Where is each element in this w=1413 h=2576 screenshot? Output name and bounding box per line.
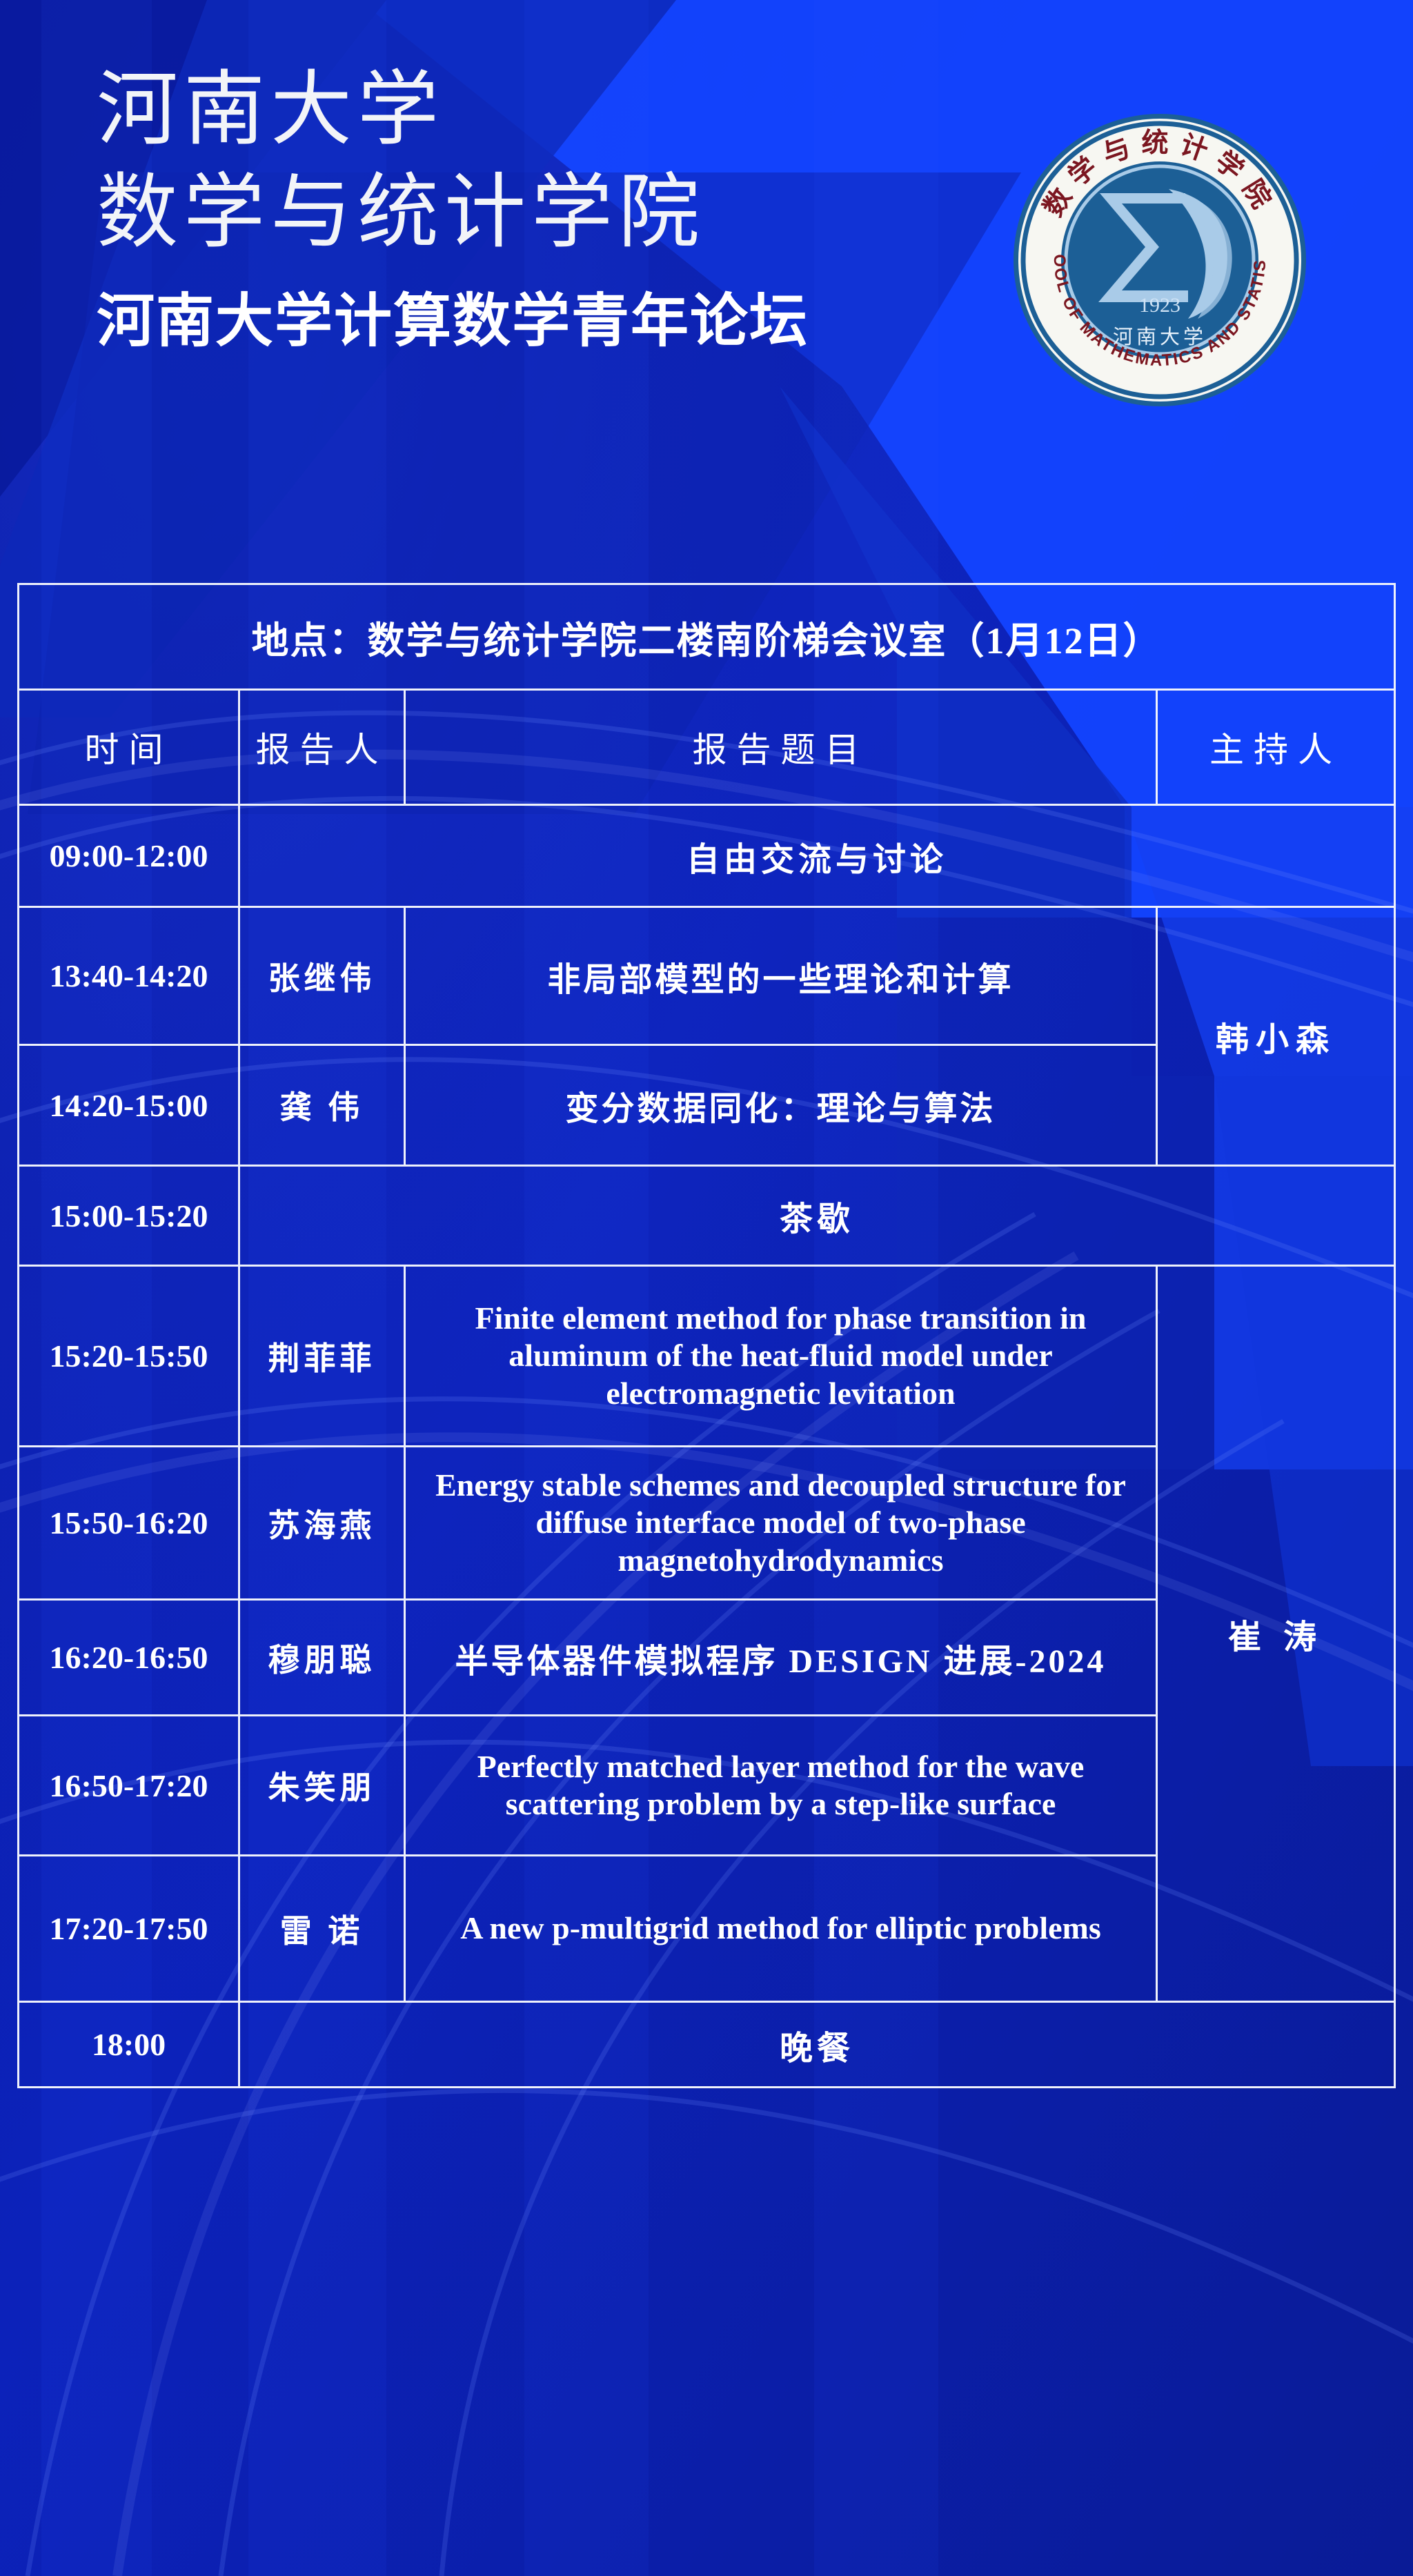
row-chair: 崔 涛 — [1157, 1266, 1395, 2002]
row-time: 15:20-15:50 — [19, 1266, 239, 1447]
row-topic-full: 茶歇 — [239, 1166, 1395, 1266]
row-topic: 半导体器件模拟程序 DESIGN 进展-2024 — [405, 1600, 1157, 1716]
row-speaker: 张继伟 — [239, 907, 405, 1045]
event-title: 河南大学计算数学青年论坛 — [97, 275, 994, 358]
header-row: 时间 报告人 报告题目 主持人 — [19, 690, 1395, 805]
seal-year: 1923 — [1139, 294, 1180, 317]
table-row: 13:40-14:20 张继伟 非局部模型的一些理论和计算 韩小森 — [19, 907, 1395, 1045]
row-topic: 变分数据同化：理论与算法 — [405, 1045, 1157, 1166]
row-speaker: 苏海燕 — [239, 1447, 405, 1600]
table-row: 15:00-15:20 茶歇 — [19, 1166, 1395, 1266]
row-topic-full: 晚餐 — [239, 2002, 1395, 2088]
row-topic: Energy stable schemes and decoupled stru… — [405, 1447, 1157, 1600]
row-topic: Finite element method for phase transiti… — [405, 1266, 1157, 1447]
row-time: 18:00 — [19, 2002, 239, 2088]
row-topic: Perfectly matched layer method for the w… — [405, 1716, 1157, 1856]
school-seal-logo: 1923 河南大学 数学与统计学院 SCHOOL OF MATHEMATICS … — [1011, 112, 1308, 408]
title-block: 河南大学 数学与统计学院 河南大学计算数学青年论坛 — [97, 59, 994, 358]
row-time: 14:20-15:00 — [19, 1045, 239, 1166]
row-time: 15:50-16:20 — [19, 1447, 239, 1600]
row-chair: 韩小森 — [1157, 907, 1395, 1166]
row-speaker: 朱笑朋 — [239, 1716, 405, 1856]
schedule-table: 地点：数学与统计学院二楼南阶梯会议室（1月12日） 时间 报告人 报告题目 主持… — [17, 583, 1396, 2088]
row-speaker: 穆朋聪 — [239, 1600, 405, 1716]
venue-row: 地点：数学与统计学院二楼南阶梯会议室（1月12日） — [19, 584, 1395, 690]
row-time: 09:00-12:00 — [19, 805, 239, 907]
row-time: 16:50-17:20 — [19, 1716, 239, 1856]
poster-header: 河南大学 数学与统计学院 河南大学计算数学青年论坛 1923 河南大学 — [0, 0, 1413, 579]
row-time: 15:00-15:20 — [19, 1166, 239, 1266]
column-header-topic: 报告题目 — [405, 690, 1157, 805]
row-time: 16:20-16:50 — [19, 1600, 239, 1716]
table-row: 18:00 晚餐 — [19, 2002, 1395, 2088]
seal-university-cn: 河南大学 — [1113, 326, 1207, 348]
row-topic: 非局部模型的一些理论和计算 — [405, 907, 1157, 1045]
column-header-time: 时间 — [19, 690, 239, 805]
row-speaker: 雷 诺 — [239, 1856, 405, 2002]
row-time: 13:40-14:20 — [19, 907, 239, 1045]
column-header-chair: 主持人 — [1157, 690, 1395, 805]
table-row: 15:20-15:50 荆菲菲 Finite element method fo… — [19, 1266, 1395, 1447]
venue-cell: 地点：数学与统计学院二楼南阶梯会议室（1月12日） — [19, 584, 1395, 690]
row-topic: A new p-multigrid method for elliptic pr… — [405, 1856, 1157, 2002]
organization-line-1: 河南大学 — [97, 59, 994, 161]
column-header-speaker: 报告人 — [239, 690, 405, 805]
row-time: 17:20-17:50 — [19, 1856, 239, 2002]
table-row: 09:00-12:00 自由交流与讨论 — [19, 805, 1395, 907]
organization-line-2: 数学与统计学院 — [97, 161, 994, 264]
row-topic-full: 自由交流与讨论 — [239, 805, 1395, 907]
row-speaker: 荆菲菲 — [239, 1266, 405, 1447]
row-speaker: 龚 伟 — [239, 1045, 405, 1166]
